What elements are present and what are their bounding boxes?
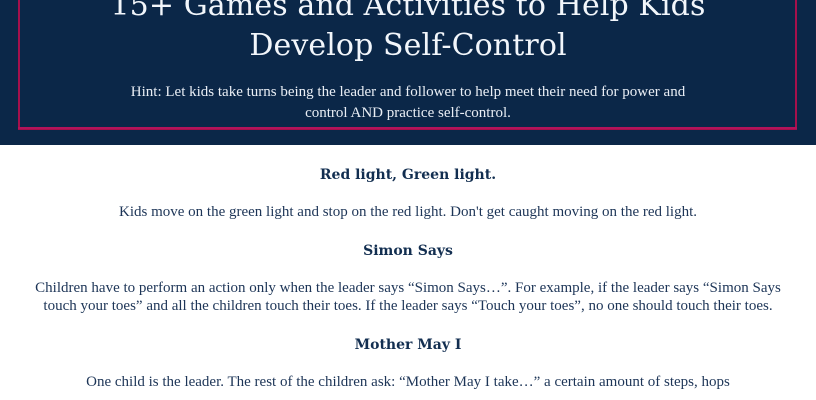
article-body: Red light, Green light. Kids move on the… (0, 145, 816, 391)
page-title: 15+ Games and Activities to Help Kids De… (0, 0, 816, 66)
game-heading-mother-may-i: Mother May I (24, 315, 792, 355)
hero-content: 15+ Games and Activities to Help Kids De… (0, 0, 816, 124)
game-description-simon-says: Children have to perform an action only … (24, 261, 792, 315)
game-heading-simon-says: Simon Says (24, 221, 792, 261)
article-page: 15+ Games and Activities to Help Kids De… (0, 0, 816, 400)
hero-hint-text: Hint: Let kids take turns being the lead… (0, 82, 816, 124)
game-heading-red-light-green-light: Red light, Green light. (24, 145, 792, 185)
game-description-red-light-green-light: Kids move on the green light and stop on… (24, 185, 792, 221)
game-description-mother-may-i: One child is the leader. The rest of the… (24, 355, 792, 391)
hero-banner: 15+ Games and Activities to Help Kids De… (0, 0, 816, 145)
